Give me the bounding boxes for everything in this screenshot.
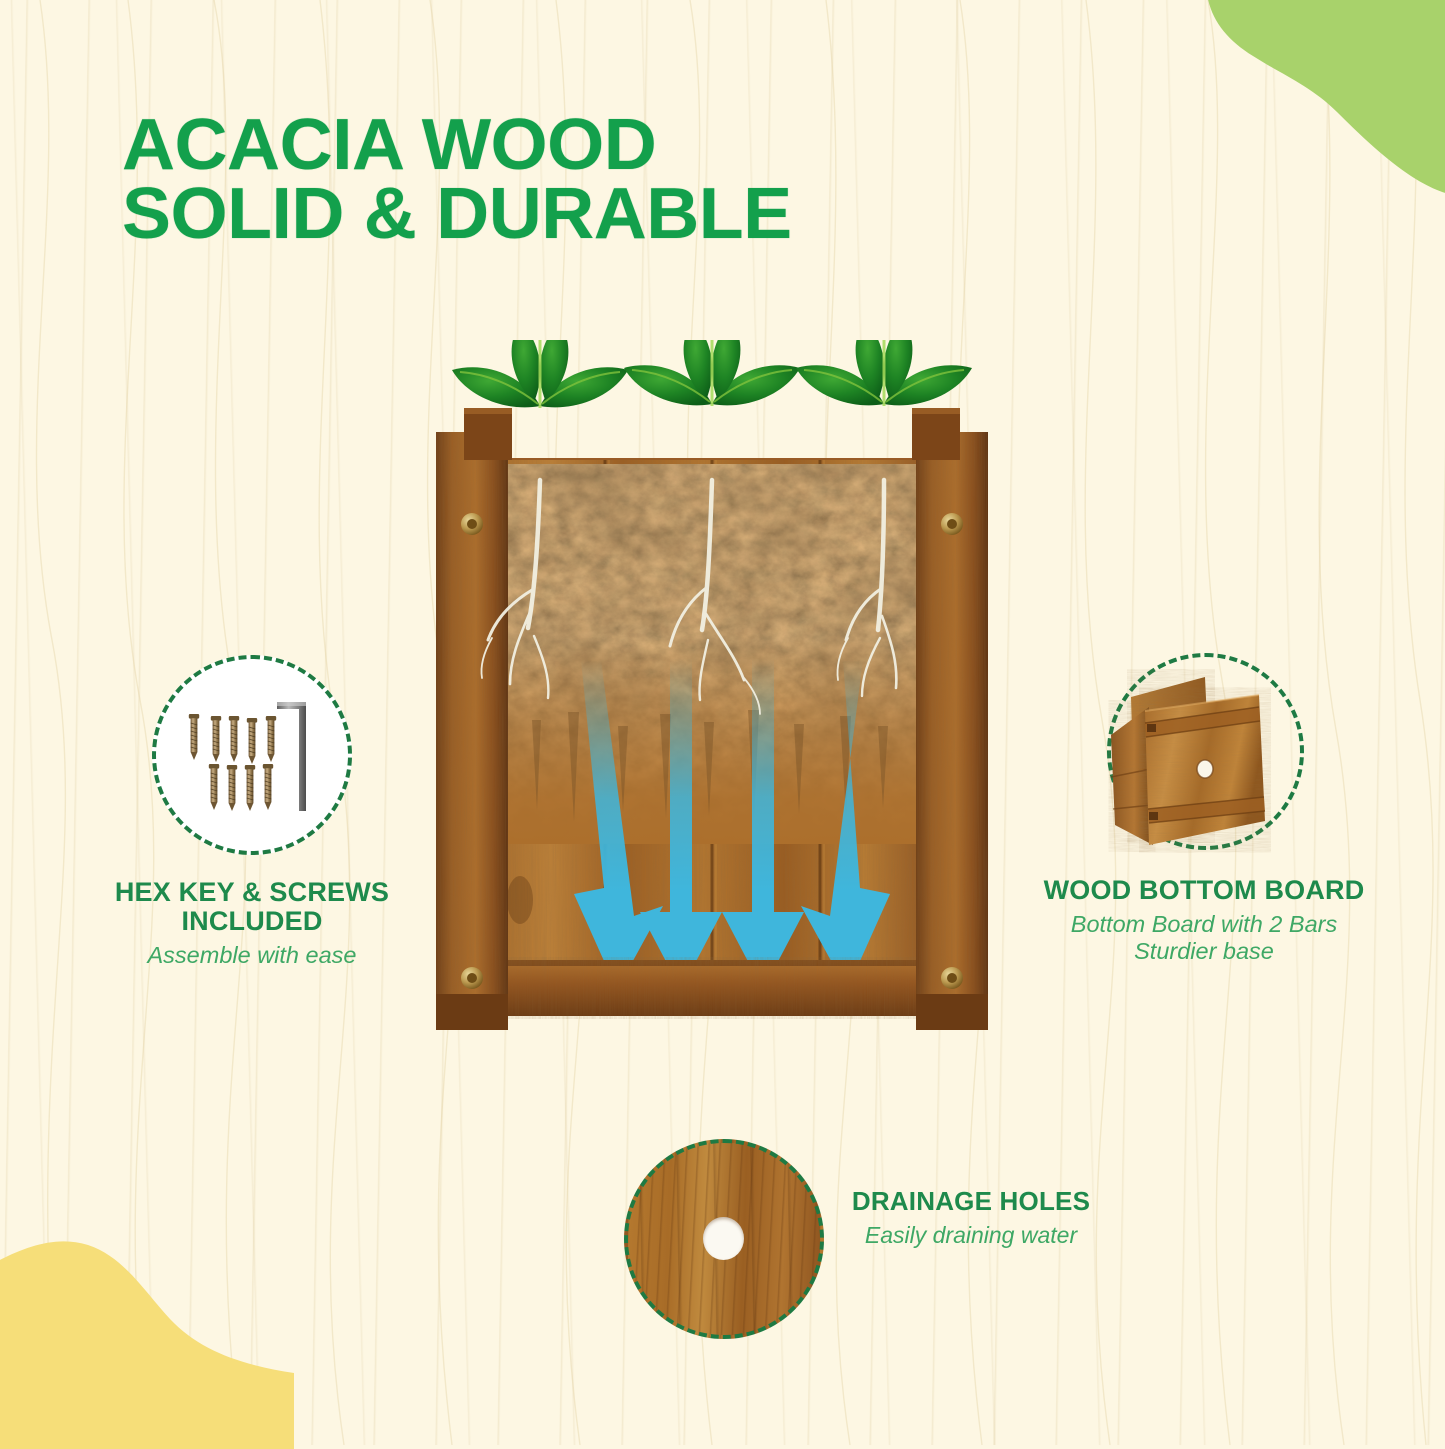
drainage-hole-icon — [703, 1217, 744, 1260]
wood-bottom-board-subtitle: Bottom Board with 2 Bars Sturdier base — [1008, 911, 1400, 966]
page-title-line-1: ACACIA WOOD — [122, 111, 792, 180]
screw-row-bottom — [209, 764, 273, 811]
screw-row-top — [189, 714, 276, 764]
decorative-yellow-blob-bottom-left — [0, 1219, 294, 1449]
wood-bottom-board-caption: WOOD BOTTOM BOARD Bottom Board with 2 Ba… — [1008, 876, 1400, 965]
hex-key-screws-caption: HEX KEY & SCREWS INCLUDED Assemble with … — [62, 878, 442, 969]
hex-key-screws-title: HEX KEY & SCREWS INCLUDED — [62, 878, 442, 936]
acacia-wood-planter-illustration — [392, 340, 1032, 1100]
drainage-holes-subtitle: Easily draining water — [836, 1222, 1106, 1249]
hex-key-screws-icon-circle — [152, 655, 352, 855]
hex-key-icon — [277, 702, 306, 811]
bottom-board-panel — [1145, 695, 1265, 845]
page-title-line-2: SOLID & DURABLE — [122, 180, 792, 249]
decorative-green-blob-top-right — [1149, 0, 1445, 194]
screws-and-hex-key-icon — [156, 659, 356, 859]
wood-bottom-board-icon-circle — [1107, 653, 1304, 850]
hex-key-screws-subtitle: Assemble with ease — [62, 942, 442, 969]
page-title: ACACIA WOOD SOLID & DURABLE — [122, 111, 792, 249]
drainage-hole-icon-circle — [624, 1139, 824, 1339]
wood-bottom-board-title: WOOD BOTTOM BOARD — [1008, 876, 1400, 905]
corner-post-right — [912, 408, 988, 1030]
wood-bottom-board-icon — [1087, 649, 1317, 859]
drainage-holes-caption: DRAINAGE HOLES Easily draining water — [836, 1188, 1106, 1248]
corner-post-left — [436, 408, 512, 1030]
drainage-holes-title: DRAINAGE HOLES — [836, 1188, 1106, 1216]
